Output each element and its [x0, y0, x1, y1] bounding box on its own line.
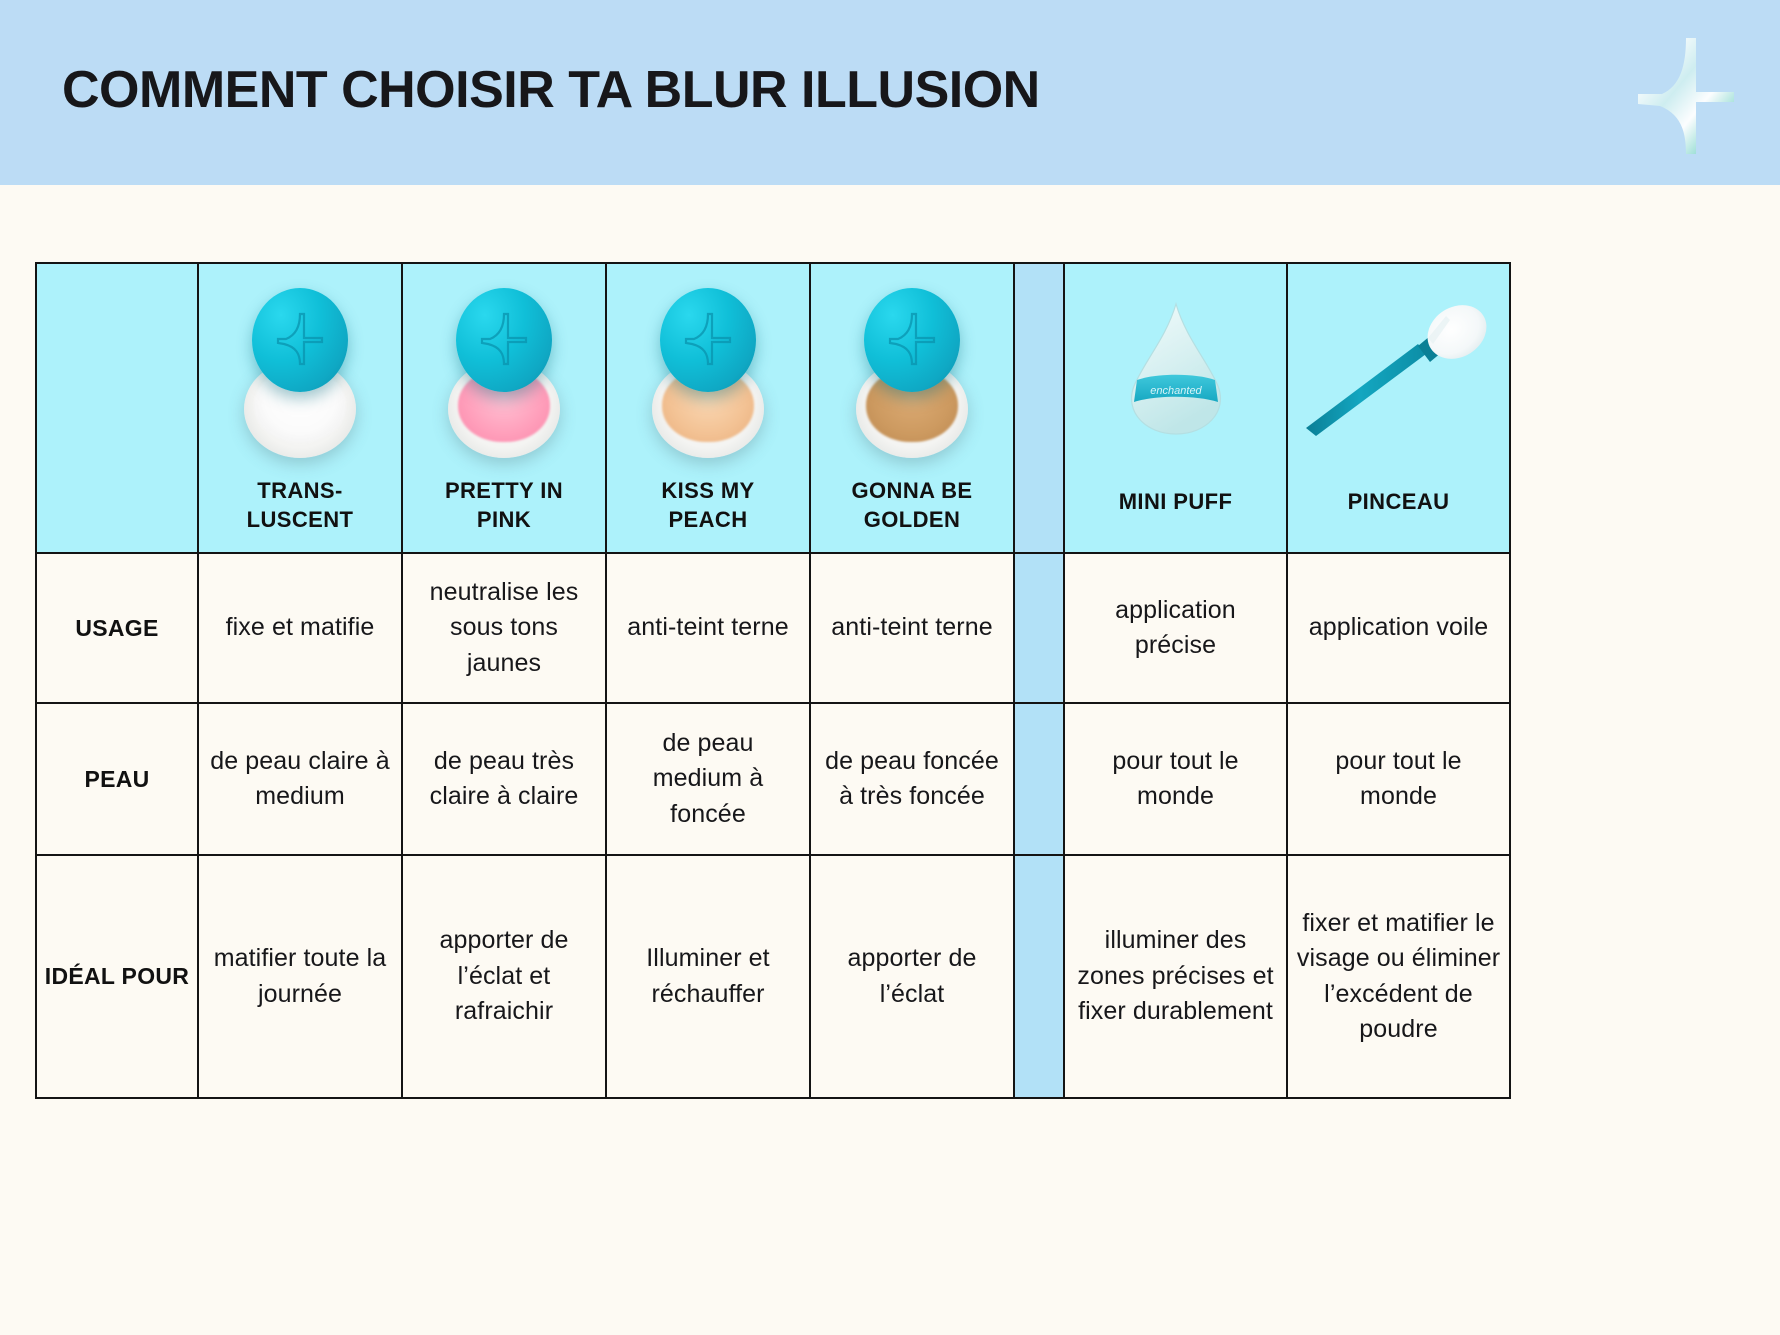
cell-peau-translucent: de peau claire à medium: [198, 703, 402, 855]
cell-peau-pretty-in-pink: de peau très claire à claire: [402, 703, 606, 855]
powder-puff-icon: enchanted: [1112, 294, 1240, 444]
product-header-translucent[interactable]: TRANS- LUSCENT: [198, 263, 402, 553]
product-name-kiss-my-peach: KISS MY PEACH: [607, 476, 809, 534]
cell-usage-translucent: fixe et matifie: [198, 553, 402, 703]
page-title: COMMENT CHOISIR TA BLUR ILLUSION: [62, 60, 1040, 120]
cell-usage-gonna-be-golden: anti-teint terne: [810, 553, 1014, 703]
table-row-ideal-pour: IDÉAL POUR matifier toute la journée app…: [36, 855, 1510, 1098]
row-label-usage: USAGE: [36, 553, 198, 703]
product-name-pinceau: PINCEAU: [1288, 487, 1509, 516]
cell-ideal-mini-puff: illuminer des zones précises et fixer du…: [1064, 855, 1287, 1098]
product-image-translucent: [199, 272, 401, 467]
spacer-column-ideal: [1014, 855, 1064, 1098]
cell-ideal-pretty-in-pink: apporter de l’éclat et rafraichir: [402, 855, 606, 1098]
table-header-row: TRANS- LUSCENT PRETTY IN PINK: [36, 263, 1510, 553]
comparison-table-wrapper: TRANS- LUSCENT PRETTY IN PINK: [35, 262, 1500, 1099]
spacer-column-usage: [1014, 553, 1064, 703]
cell-peau-gonna-be-golden: de peau foncée à très foncée: [810, 703, 1014, 855]
table-row-peau: PEAU de peau claire à medium de peau trè…: [36, 703, 1510, 855]
cell-peau-kiss-my-peach: de peau medium à foncée: [606, 703, 810, 855]
cell-ideal-pinceau: fixer et matifier le visage ou éliminer …: [1287, 855, 1510, 1098]
spacer-column-header: [1014, 263, 1064, 553]
row-label-peau: PEAU: [36, 703, 198, 855]
powder-jar-icon: [440, 286, 568, 464]
powder-jar-icon: [644, 286, 772, 464]
row-label-ideal-pour: IDÉAL POUR: [36, 855, 198, 1098]
product-name-line2: LUSCENT: [247, 507, 354, 532]
product-header-pinceau[interactable]: PINCEAU: [1287, 263, 1510, 553]
cell-usage-pinceau: application voile: [1287, 553, 1510, 703]
powder-jar-icon: [848, 286, 976, 464]
cell-peau-pinceau: pour tout le monde: [1287, 703, 1510, 855]
product-header-pretty-in-pink[interactable]: PRETTY IN PINK: [402, 263, 606, 553]
product-header-gonna-be-golden[interactable]: GONNA BE GOLDEN: [810, 263, 1014, 553]
product-name-translucent: TRANS- LUSCENT: [199, 476, 401, 534]
cell-peau-mini-puff: pour tout le monde: [1064, 703, 1287, 855]
product-name-line2: PEACH: [668, 507, 747, 532]
product-header-kiss-my-peach[interactable]: KISS MY PEACH: [606, 263, 810, 553]
product-header-mini-puff[interactable]: enchanted MINI PUFF: [1064, 263, 1287, 553]
cell-ideal-kiss-my-peach: Illuminer et réchauffer: [606, 855, 810, 1098]
product-name-line2: PINK: [477, 507, 531, 532]
cell-usage-pretty-in-pink: neutralise les sous tons jaunes: [402, 553, 606, 703]
product-name-gonna-be-golden: GONNA BE GOLDEN: [811, 476, 1013, 534]
product-name-mini-puff: MINI PUFF: [1065, 487, 1286, 516]
product-name-line1: TRANS-: [257, 478, 343, 503]
product-image-mini-puff: enchanted: [1065, 272, 1286, 467]
cell-usage-kiss-my-peach: anti-teint terne: [606, 553, 810, 703]
enchanted-cross-logo-icon: [1630, 26, 1742, 156]
svg-text:enchanted: enchanted: [1150, 385, 1202, 397]
product-image-gonna-be-golden: [811, 272, 1013, 467]
product-comparison-table: TRANS- LUSCENT PRETTY IN PINK: [35, 262, 1511, 1099]
cell-ideal-gonna-be-golden: apporter de l’éclat: [810, 855, 1014, 1098]
cell-ideal-translucent: matifier toute la journée: [198, 855, 402, 1098]
product-image-pretty-in-pink: [403, 272, 605, 467]
makeup-brush-icon: [1294, 302, 1504, 442]
powder-jar-icon: [236, 286, 364, 464]
header-corner-cell: [36, 263, 198, 553]
product-name-line1: GONNA BE: [852, 478, 973, 503]
product-image-kiss-my-peach: [607, 272, 809, 467]
product-name-line1: PRETTY IN: [445, 478, 563, 503]
product-image-pinceau: [1288, 272, 1509, 467]
product-name-line1: KISS MY: [661, 478, 754, 503]
product-name-line2: GOLDEN: [864, 507, 961, 532]
page-header: COMMENT CHOISIR TA BLUR ILLUSION: [0, 0, 1780, 185]
table-row-usage: USAGE fixe et matifie neutralise les sou…: [36, 553, 1510, 703]
product-name-pretty-in-pink: PRETTY IN PINK: [403, 476, 605, 534]
cell-usage-mini-puff: application précise: [1064, 553, 1287, 703]
spacer-column-peau: [1014, 703, 1064, 855]
